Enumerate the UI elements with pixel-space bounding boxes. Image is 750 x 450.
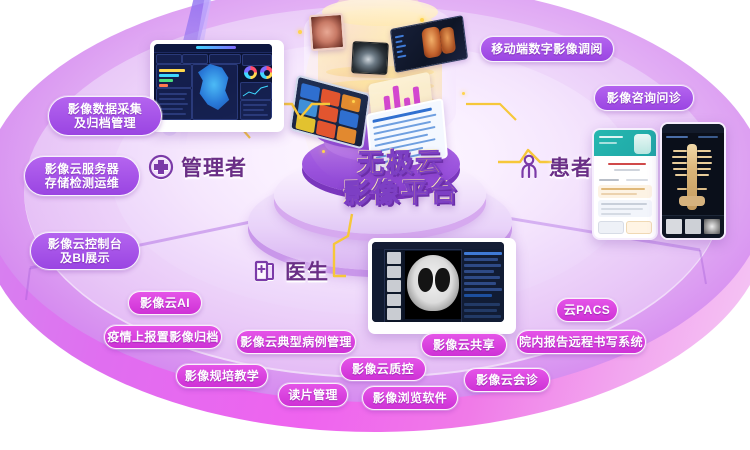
tag-epidemic-report-archive[interactable]: 疫情上报置影像归档 [104, 325, 222, 349]
role-admin-label: 管理者 [181, 152, 247, 182]
tag-image-viewer-software[interactable]: 影像浏览软件 [362, 386, 458, 410]
bi-bar-chart [156, 64, 192, 88]
phone-teal-header [594, 130, 656, 156]
tag-img-data-collect[interactable]: 影像数据采集 及归档管理 [48, 96, 162, 136]
ct-axial-image [405, 251, 461, 319]
tag-cloud-pacs[interactable]: 云PACS [556, 298, 618, 322]
bi-donut-2 [260, 66, 272, 79]
tag-image-cloud-share[interactable]: 影像云共享 [421, 333, 507, 357]
bi-dashboard-screen [154, 44, 272, 120]
medical-record-plus-icon [252, 258, 278, 284]
ct-viewer-monitor[interactable] [368, 238, 516, 334]
bi-kpi-4 [242, 54, 272, 66]
bi-kpi-3 [209, 54, 241, 64]
hospital-cross-icon [148, 154, 174, 180]
bi-trend [240, 82, 272, 100]
page-title-line-1: 无极云 [315, 147, 486, 180]
tag-remote-report-writing[interactable]: 院内报告远程书写系统 [516, 330, 646, 354]
bi-kpi-2 [182, 54, 208, 64]
phone-3d-toolbar [662, 124, 724, 133]
tag-film-reading-mgmt[interactable]: 读片管理 [278, 383, 348, 407]
sparkle-icon [298, 30, 302, 34]
role-patient-label: 患者 [549, 152, 593, 182]
bi-donut-1 [244, 66, 257, 79]
page-title-line-2: 影像平台 [316, 177, 487, 210]
tag-img-cloud-console[interactable]: 影像云控制台 及BI展示 [30, 232, 140, 270]
infographic-canvas: 管理者 患者 医生 无极云 影像平台 影像数据采集 及归档管理 影像云服务器 存… [0, 0, 750, 450]
tag-image-cloud-qc[interactable]: 影像云质控 [340, 357, 426, 381]
ct-tool-rail [372, 249, 385, 322]
tag-typical-case-mgmt[interactable]: 影像云典型病例管理 [236, 330, 356, 354]
bi-dashboard-monitor[interactable] [150, 40, 284, 132]
doctor-avatar-icon [634, 134, 651, 154]
ct-thumbnail-strip [385, 250, 403, 321]
ct-viewer-screen [372, 242, 504, 322]
tag-image-consult[interactable]: 影像咨询问诊 [594, 85, 694, 111]
phone-section-1 [598, 185, 652, 198]
phone-3d-thumbnails [662, 215, 724, 238]
tag-image-cloud-consult[interactable]: 影像云会诊 [464, 368, 550, 392]
tag-img-cloud-server[interactable]: 影像云服务器 存储检测运维 [24, 156, 140, 196]
ct-report-panel [461, 249, 504, 322]
phone-3d-volume-image [667, 142, 719, 214]
bi-kpi-1 [156, 54, 182, 64]
phone-title-card [598, 159, 652, 175]
tag-standard-teaching[interactable]: 影像规培教学 [176, 364, 268, 388]
ultrasound-thumbnail [351, 41, 389, 75]
consult-phone[interactable] [592, 128, 658, 240]
role-doctor[interactable]: 医生 [252, 256, 329, 286]
bi-list-right [240, 100, 272, 120]
phone-section-2 [598, 200, 652, 217]
tag-mobile-image-query[interactable]: 移动端数字影像调阅 [480, 36, 614, 62]
sparkle-icon [462, 92, 465, 95]
tag-image-cloud-ai[interactable]: 影像云AI [128, 291, 202, 315]
endoscopy-thumbnail [309, 13, 345, 51]
person-icon [516, 154, 542, 180]
sparkle-icon [352, 100, 355, 103]
role-doctor-label: 医生 [285, 256, 329, 286]
role-admin[interactable]: 管理者 [148, 152, 247, 182]
volume-render-phone[interactable] [660, 122, 726, 240]
page-title: 无极云 影像平台 [315, 147, 486, 210]
bi-header [154, 44, 272, 53]
sparkle-icon [420, 18, 424, 22]
phone-action-right[interactable] [626, 221, 652, 234]
phone-action-left[interactable] [598, 221, 624, 234]
role-patient[interactable]: 患者 [516, 152, 593, 182]
